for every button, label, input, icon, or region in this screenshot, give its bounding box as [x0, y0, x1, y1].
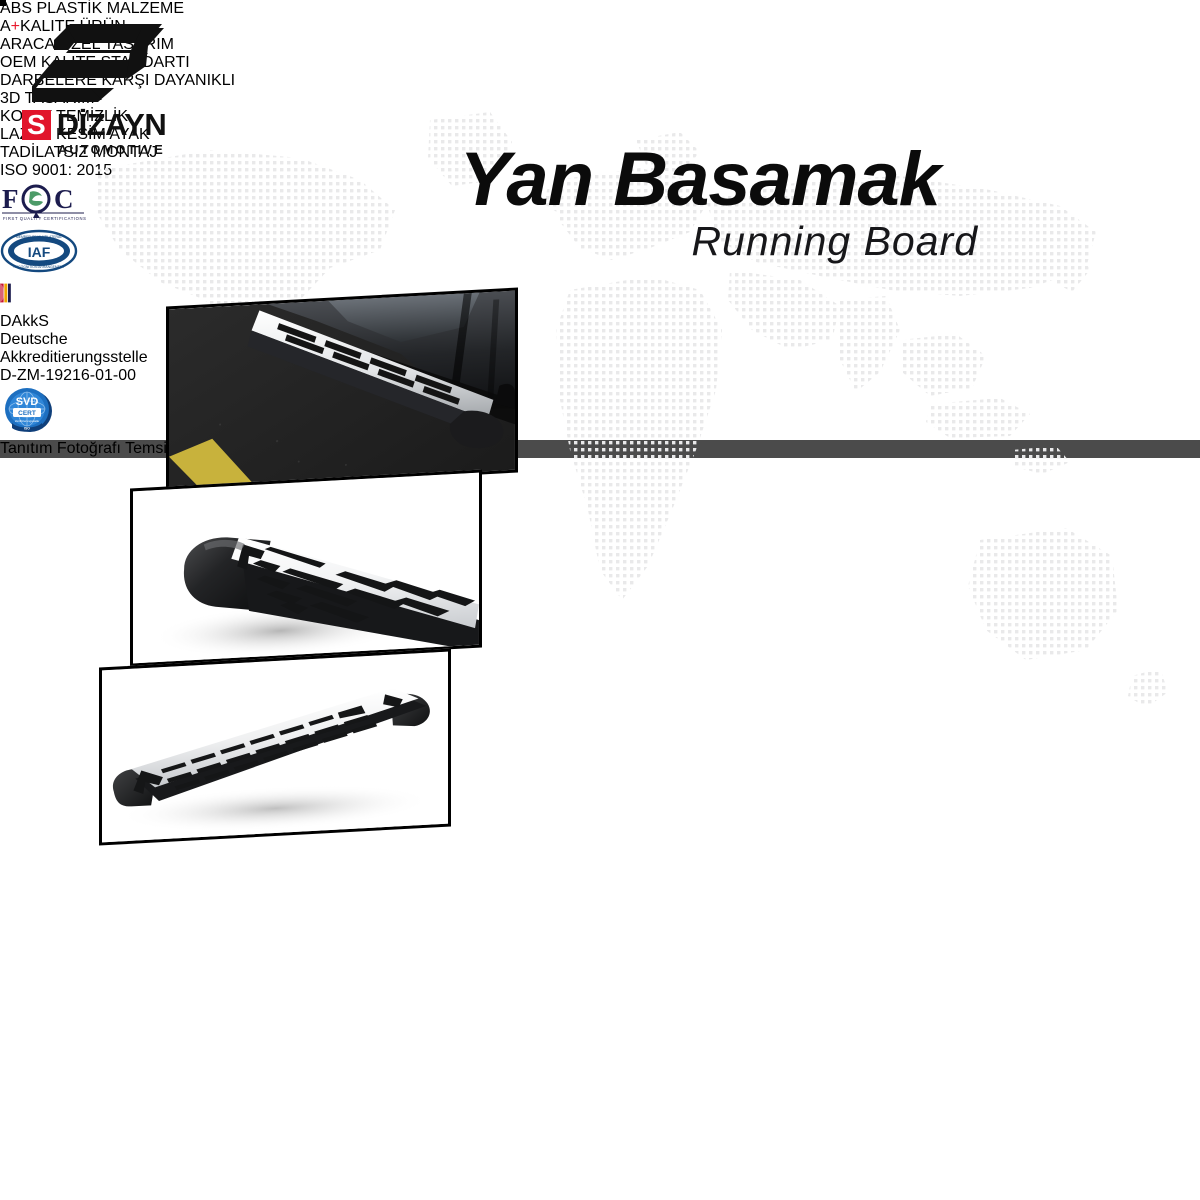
page-title: Yan Basamak	[0, 138, 1000, 222]
product-photo-end-angle	[0, 0, 6, 6]
svg-text:RECOGNITION ARRANGEMENT: RECOGNITION ARRANGEMENT	[13, 265, 64, 269]
product-photo-end-closeup	[130, 469, 482, 666]
headline-block: Yan Basamak Running Board	[0, 138, 1000, 264]
feature-prefix: A	[0, 18, 11, 35]
product-photo-full-length	[99, 648, 451, 845]
svg-text:Zertifizierungsstelle: Zertifizierungsstelle	[15, 419, 40, 423]
feature-label: ABS PLASTİK MALZEME	[0, 0, 184, 17]
logo-s-badge: S	[22, 110, 51, 140]
product-advertisement-banner: S DİZAYN AUTOMOTIVE Yan Basamak Running …	[0, 0, 1200, 1200]
feature-item-abs-plastik-malzeme: ABS PLASTİK MALZEME	[0, 0, 1200, 18]
brand-logo: S DİZAYN AUTOMOTIVE	[14, 22, 224, 150]
svg-text:ISO: ISO	[24, 427, 30, 431]
product-photo-installed-on-vehicle	[166, 287, 518, 491]
s-monogram-logo-icon	[30, 22, 180, 104]
svg-text:CERT: CERT	[18, 410, 36, 417]
brand-wordmark: S DİZAYN	[22, 108, 166, 142]
page-subtitle: Running Board	[0, 218, 1000, 264]
svg-text:SVD: SVD	[16, 396, 39, 408]
